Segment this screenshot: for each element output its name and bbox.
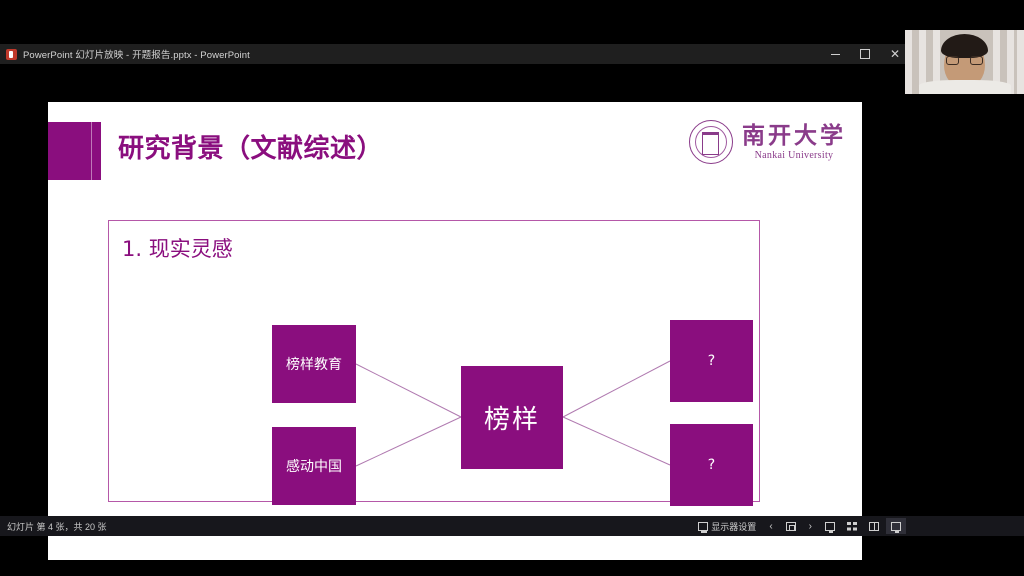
next-slide-button[interactable]: › [803, 521, 818, 532]
window-title: PowerPoint 幻灯片放映 - 开题报告.pptx - PowerPoin… [23, 47, 250, 61]
person-shirt [919, 80, 1011, 94]
diagram-connectors [108, 220, 760, 502]
monitor-icon [698, 522, 708, 531]
statusbar-controls: 显示器设置 ‹ › [693, 516, 906, 536]
display-settings-button[interactable]: 显示器设置 [693, 518, 761, 534]
diagram-node-question-2: ? [670, 424, 753, 506]
diagram-node-moving-china: 感动中国 [272, 427, 356, 505]
grid-icon [847, 522, 857, 531]
powerpoint-icon [6, 49, 17, 60]
glasses-icon [946, 56, 983, 65]
logo-text: 南开大学 Nankai University [742, 124, 846, 161]
zoom-slide-button[interactable] [864, 518, 884, 534]
diagram-node-question-1: ? [670, 320, 753, 402]
screen-root: PowerPoint 幻灯片放映 - 开题报告.pptx - PowerPoin… [0, 0, 1024, 576]
blind-stripe [905, 30, 912, 94]
pen-icon [786, 522, 796, 531]
all-slides-button[interactable] [842, 518, 862, 534]
minimize-icon[interactable] [820, 44, 850, 64]
maximize-icon[interactable] [850, 44, 880, 64]
slideshow-statusbar: 幻灯片 第 4 张，共 20 张 显示器设置 ‹ › [0, 516, 1024, 536]
slideshow-stage[interactable]: 研究背景（文献综述） 南开大学 Nankai University 1. 现实灵… [0, 64, 1024, 516]
title-accent-block [48, 122, 101, 180]
blind-stripe [1017, 30, 1024, 94]
diagram-node-exemplar-education: 榜样教育 [272, 325, 356, 403]
slide-counter: 幻灯片 第 4 张，共 20 张 [7, 520, 107, 533]
page-title: 研究背景（文献综述） [118, 128, 383, 165]
webcam-video-overlay[interactable] [905, 30, 1024, 94]
nankai-logo: 南开大学 Nankai University [689, 120, 846, 164]
presenter-screen-icon [825, 522, 835, 531]
window-controls: ✕ [820, 44, 910, 64]
concept-diagram: 榜样教育 感动中国 榜样 ? ? [108, 220, 760, 502]
zoom-icon [869, 522, 879, 531]
powerpoint-window: PowerPoint 幻灯片放映 - 开题报告.pptx - PowerPoin… [0, 44, 1024, 536]
previous-slide-button[interactable]: ‹ [763, 521, 778, 532]
nankai-seal-icon [689, 120, 733, 164]
black-screen-button[interactable] [886, 518, 906, 534]
logo-name-en: Nankai University [742, 151, 846, 161]
presenter-view-button[interactable] [820, 518, 840, 534]
logo-name-cn: 南开大学 [742, 124, 846, 147]
person-hair [941, 34, 988, 58]
slide-canvas[interactable]: 研究背景（文献综述） 南开大学 Nankai University 1. 现实灵… [48, 102, 862, 560]
black-screen-icon [891, 522, 901, 531]
diagram-node-exemplar: 榜样 [461, 366, 563, 469]
window-titlebar: PowerPoint 幻灯片放映 - 开题报告.pptx - PowerPoin… [0, 44, 1024, 64]
display-settings-label: 显示器设置 [711, 520, 756, 533]
pen-tools-button[interactable] [781, 518, 801, 534]
